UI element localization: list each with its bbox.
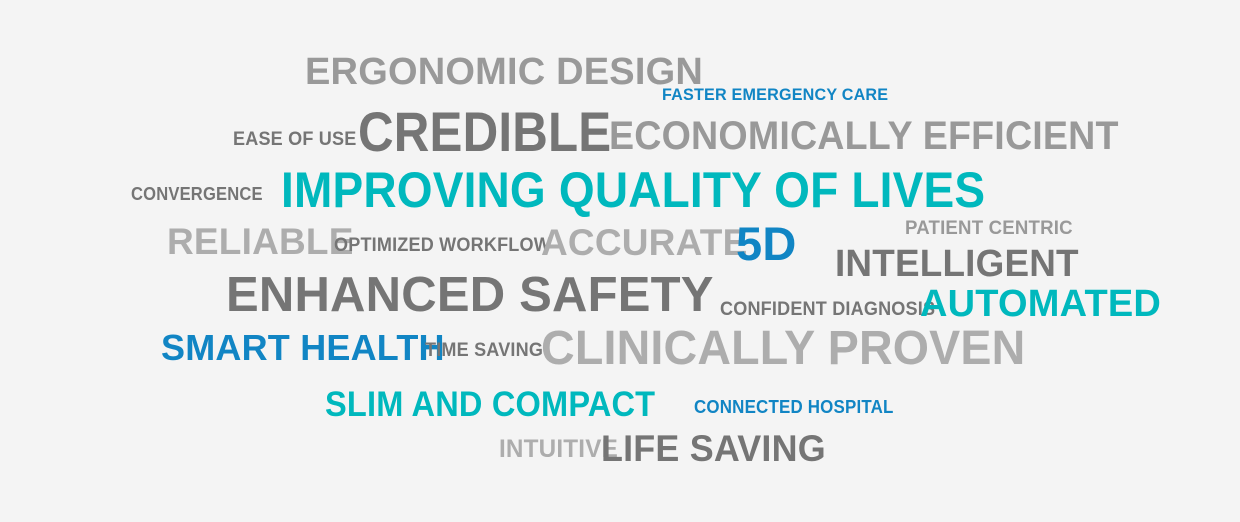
word-economically-efficient: ECONOMICALLY EFFICIENT (609, 116, 1119, 156)
word-intelligent: INTELLIGENT (835, 245, 1079, 283)
word-accurate: ACCURATE (541, 224, 747, 261)
word-credible: CREDIBLE (358, 104, 611, 160)
word-clinically-proven: CLINICALLY PROVEN (541, 325, 1025, 373)
word-smart-health: SMART HEALTH (161, 330, 445, 366)
word-optimized-workflow: OPTIMIZED WORKFLOW (334, 236, 551, 255)
word-cloud-canvas: ERGONOMIC DESIGNFASTER EMERGENCY CAREEAS… (0, 0, 1240, 522)
word-ergonomic-design: ERGONOMIC DESIGN (305, 53, 703, 91)
word-ease-of-use: EASE OF USE (233, 130, 356, 149)
word-patient-centric: PATIENT CENTRIC (905, 219, 1073, 238)
word-faster-emergency-care: FASTER EMERGENCY CARE (662, 86, 888, 103)
word-life-saving: LIFE SAVING (601, 430, 826, 467)
word-connected-hospital: CONNECTED HOSPITAL (694, 398, 894, 416)
word-five-d: 5D (736, 220, 796, 267)
word-time-saving: TIME SAVING (425, 341, 543, 360)
word-convergence: CONVERGENCE (131, 185, 263, 203)
word-automated: AUTOMATED (920, 285, 1161, 323)
word-enhanced-safety: ENHANCED SAFETY (226, 271, 714, 320)
word-confident-diagnosis: CONFIDENT DIAGNOSIS (720, 300, 935, 319)
word-slim-and-compact: SLIM AND COMPACT (325, 387, 655, 422)
word-improving-quality-of-lives: IMPROVING QUALITY OF LIVES (281, 165, 985, 215)
word-reliable: RELIABLE (167, 223, 354, 260)
